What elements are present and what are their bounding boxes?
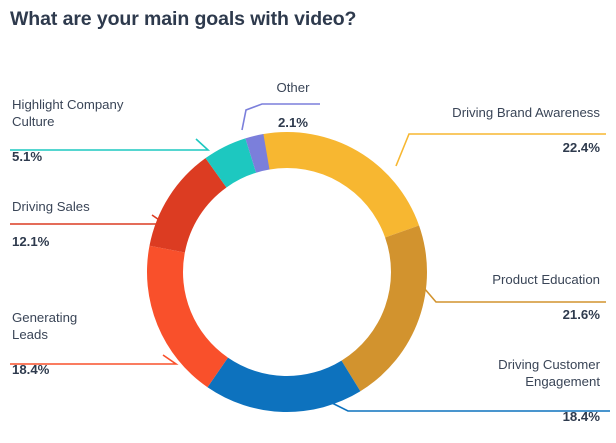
donut-slice[interactable] — [208, 358, 361, 412]
callout-driving-customer-engagement[interactable]: Driving Customer Engagement 18.4% — [350, 338, 600, 443]
callout-label: Driving Brand Awareness — [320, 104, 600, 122]
callout-highlight-company-culture[interactable]: Highlight Company Culture 5.1% — [12, 78, 202, 183]
callout-label: Driving Sales — [12, 198, 192, 216]
callout-value: 22.4% — [320, 139, 600, 157]
callout-value: 18.4% — [12, 361, 182, 379]
callout-driving-sales[interactable]: Driving Sales 12.1% — [12, 180, 192, 268]
callout-label: Driving Customer Engagement — [350, 356, 600, 391]
callout-value: 12.1% — [12, 233, 192, 251]
callout-generating-leads[interactable]: Generating Leads 18.4% — [12, 291, 182, 396]
callout-value: 5.1% — [12, 148, 202, 166]
callout-driving-brand-awareness[interactable]: Driving Brand Awareness 22.4% — [320, 86, 600, 174]
callout-label: Highlight Company Culture — [12, 96, 202, 131]
callout-label: Generating Leads — [12, 309, 182, 344]
callout-label: Product Education — [350, 271, 600, 289]
donut-chart-figure: What are your main goals with video? Hig… — [0, 0, 616, 424]
callout-value: 21.6% — [350, 306, 600, 324]
callout-product-education[interactable]: Product Education 21.6% — [350, 253, 600, 341]
callout-value: 18.4% — [350, 408, 600, 426]
